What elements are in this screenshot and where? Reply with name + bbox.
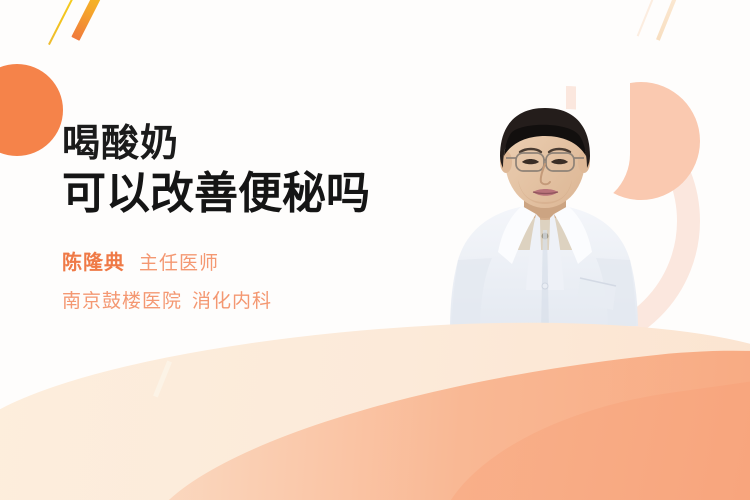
poster-canvas: 喝酸奶 可以改善便秘吗 陈隆典主任医师 南京鼓楼医院消化内科 — [0, 0, 750, 500]
diagonal-stroke-top-right-a-icon — [656, 0, 680, 41]
headline-line-1: 喝酸奶 — [62, 122, 462, 166]
diagonal-stroke-thick-top-left-icon — [71, 0, 105, 41]
headline-line-2: 可以改善便秘吗 — [62, 168, 462, 220]
affiliation-row: 南京鼓楼医院消化内科 — [62, 288, 462, 316]
headline-block: 喝酸奶 可以改善便秘吗 陈隆典主任医师 南京鼓楼医院消化内科 — [62, 122, 462, 316]
doctor-portrait — [440, 100, 650, 350]
byline-row: 陈隆典主任医师 — [62, 248, 462, 280]
orange-circle-left-icon — [0, 64, 63, 156]
department-name: 消化内科 — [192, 291, 272, 312]
diagonal-stroke-top-right-b-icon — [637, 0, 658, 37]
doctor-title: 主任医师 — [139, 253, 219, 274]
doctor-name: 陈隆典 — [62, 252, 125, 274]
hospital-name: 南京鼓楼医院 — [62, 291, 182, 312]
